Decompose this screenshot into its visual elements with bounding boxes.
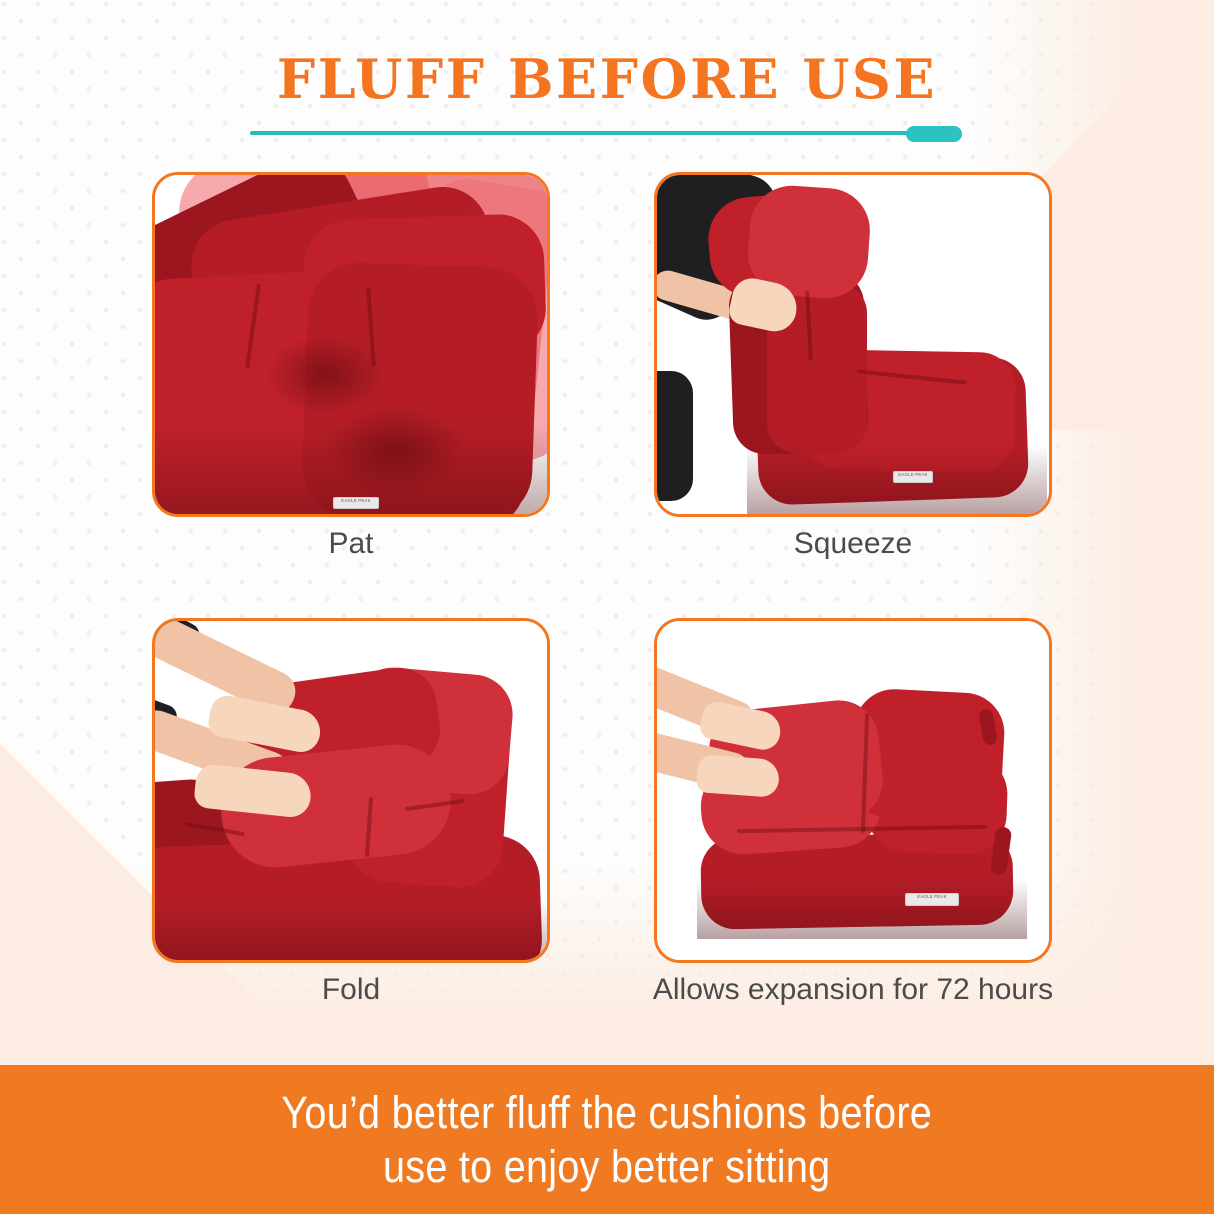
photo-expansion: EAGLE PEAK [657, 621, 1049, 960]
page-title: FLUFF BEFORE USE [0, 52, 1214, 106]
bottom-banner: You’d better fluff the cushions before u… [0, 1065, 1214, 1214]
divider-end-cap [906, 126, 962, 142]
step-card-squeeze: EAGLE PEAK Squeeze [654, 172, 1052, 517]
steps-grid: EAGLE PEAK Pat [152, 172, 1052, 975]
person-hand-lower [696, 754, 780, 798]
step-caption-pat: Pat [152, 524, 550, 563]
cushion-bottom-shading [155, 901, 547, 960]
photo-frame-pat: EAGLE PEAK [152, 172, 550, 517]
photo-fold [155, 621, 547, 960]
photo-pat: EAGLE PEAK [155, 175, 547, 514]
step-caption-squeeze: Squeeze [654, 524, 1052, 563]
brand-tag-squeeze: EAGLE PEAK [893, 471, 933, 483]
photo-frame-squeeze: EAGLE PEAK [654, 172, 1052, 517]
cushion-bottom-shading [697, 879, 1027, 939]
divider-line [250, 131, 920, 135]
photo-frame-expansion: EAGLE PEAK [654, 618, 1052, 963]
step-card-expansion: EAGLE PEAK Allows expansion for 72 hours [654, 618, 1052, 963]
photo-squeeze: EAGLE PEAK [657, 175, 1049, 514]
brand-tag-expansion: EAGLE PEAK [905, 893, 959, 906]
tuft-dimple-1 [265, 335, 385, 415]
person-leg [657, 371, 693, 501]
step-caption-fold: Fold [152, 970, 550, 1009]
step-card-pat: EAGLE PEAK Pat [152, 172, 550, 517]
step-card-fold: Fold [152, 618, 550, 963]
brand-tag-pat: EAGLE PEAK [333, 497, 379, 509]
step-caption-expansion: Allows expansion for 72 hours [544, 970, 1162, 1009]
banner-text: You’d better fluff the cushions before u… [282, 1086, 933, 1192]
infographic-page: FLUFF BEFORE USE [0, 0, 1214, 1214]
photo-frame-fold [152, 618, 550, 963]
title-divider [250, 126, 962, 142]
